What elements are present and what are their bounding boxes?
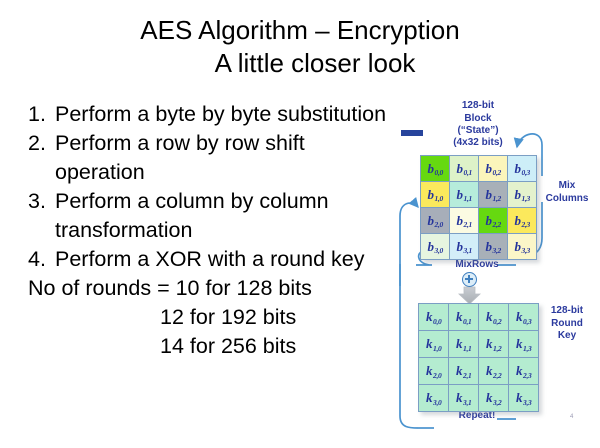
key-cell-label: k0,0 [426, 310, 441, 325]
round-key-matrix: k0,0k0,1k0,2k0,3k1,0k1,1k1,2k1,3k2,0k2,1… [418, 303, 539, 412]
round-key-label: 128-bit Round Key [534, 305, 600, 343]
mix-columns-label-line-1: Mix [534, 180, 600, 193]
list-item-label: Perform a XOR with a round key [55, 247, 364, 271]
key-cell-label: k0,2 [486, 310, 501, 325]
list-item: 4.Perform a XOR with a round key [28, 245, 400, 274]
round-key-label-line-1: 128-bit [534, 305, 600, 318]
state-row: b2,0b2,1b2,2b2,3 [421, 208, 537, 234]
list-item: 1.Perform a byte by byte substitution [28, 100, 400, 129]
key-cell-1-0: k1,0 [419, 331, 449, 358]
state-cell-1-1: b1,1 [450, 182, 479, 208]
state-cell-0-1: b0,1 [450, 156, 479, 182]
key-cell-0-1: k0,1 [449, 304, 479, 331]
list-item-label: Perform a byte by byte substitution [55, 102, 386, 126]
state-cell-label: b3,0 [428, 240, 443, 255]
key-cell-label: k1,3 [516, 337, 531, 352]
repeat-loop-line [400, 286, 418, 428]
round-key-label-line-3: Key [534, 330, 600, 343]
state-cell-1-3: b1,3 [508, 182, 537, 208]
state-cell-label: b1,2 [486, 188, 501, 203]
key-cell-label: k2,1 [456, 364, 471, 379]
key-cell-label: k2,0 [426, 364, 441, 379]
state-cell-label: b1,0 [428, 188, 443, 203]
state-cell-label: b3,3 [515, 240, 530, 255]
mix-rows-arrow-left [400, 203, 418, 286]
mix-columns-label: Mix Columns [534, 180, 600, 205]
state-cell-label: b1,3 [515, 188, 530, 203]
state-caption: 128-bit Block (“State”) [408, 100, 548, 138]
list-item: 2.Perform a row by row shift operation [28, 129, 400, 187]
key-row: k1,0k1,1k1,2k1,3 [419, 331, 539, 358]
state-cell-label: b2,0 [428, 214, 443, 229]
state-cell-0-0: b0,0 [421, 156, 450, 182]
key-cell-1-1: k1,1 [449, 331, 479, 358]
key-cell-0-3: k0,3 [509, 304, 539, 331]
state-size-label: (4x32 bits) [408, 137, 548, 150]
state-caption-line-2: Block [408, 113, 548, 126]
key-cell-label: k1,0 [426, 337, 441, 352]
key-cell-1-3: k1,3 [509, 331, 539, 358]
state-cell-label: b0,2 [486, 162, 501, 177]
slide-number: 4 [570, 414, 573, 420]
bullet-list: 1.Perform a byte by byte substitution2.P… [28, 100, 400, 361]
state-cell-label: b2,1 [457, 214, 472, 229]
state-cell-label: b2,2 [486, 214, 501, 229]
key-cell-2-1: k2,1 [449, 358, 479, 385]
state-cell-3-1: b3,1 [450, 234, 479, 260]
key-row: k0,0k0,1k0,2k0,3 [419, 304, 539, 331]
key-cell-label: k3,3 [516, 391, 531, 406]
list-item: No of rounds = 10 for 128 bits [28, 274, 400, 303]
list-item-number: 2. [28, 129, 46, 158]
list-item-label: Perform a column by column transformatio… [55, 189, 329, 242]
key-cell-label: k1,1 [456, 337, 471, 352]
xor-down-arrow [459, 287, 480, 304]
state-cell-label: b3,2 [486, 240, 501, 255]
list-item-number: 4. [28, 245, 46, 274]
xor-icon [462, 272, 477, 287]
list-item: 3.Perform a column by column transformat… [28, 187, 400, 245]
state-row: b1,0b1,1b1,2b1,3 [421, 182, 537, 208]
state-cell-2-1: b2,1 [450, 208, 479, 234]
round-key-label-line-2: Round [534, 318, 600, 331]
list-item-number: 3. [28, 187, 46, 216]
key-cell-0-2: k0,2 [479, 304, 509, 331]
key-cell-label: k3,0 [426, 391, 441, 406]
state-cell-2-3: b2,3 [508, 208, 537, 234]
key-cell-label: k0,3 [516, 310, 531, 325]
key-cell-1-2: k1,2 [479, 331, 509, 358]
state-cell-0-2: b0,2 [479, 156, 508, 182]
state-cell-label: b3,1 [457, 240, 472, 255]
key-cell-3-1: k3,1 [449, 385, 479, 412]
key-cell-0-0: k0,0 [419, 304, 449, 331]
state-cell-1-2: b1,2 [479, 182, 508, 208]
title-line-1: AES Algorithm – Encryption [140, 15, 459, 45]
key-cell-label: k3,1 [456, 391, 471, 406]
state-row: b0,0b0,1b0,2b0,3 [421, 156, 537, 182]
state-cell-label: b2,3 [515, 214, 530, 229]
key-cell-label: k2,3 [516, 364, 531, 379]
state-matrix: b0,0b0,1b0,2b0,3b1,0b1,1b1,2b1,3b2,0b2,1… [420, 155, 537, 260]
list-item-number: 1. [28, 100, 46, 129]
slide-canvas: AES Algorithm – Encryption A little clos… [0, 0, 600, 448]
state-cell-label: b0,1 [457, 162, 472, 177]
key-cell-3-2: k3,2 [479, 385, 509, 412]
aes-round-diagram: 128-bit Block (“State”) (4x32 bits) Mix … [392, 98, 600, 446]
mix-rows-label: MixRows [418, 259, 536, 272]
state-cell-label: b0,0 [428, 162, 443, 177]
key-cell-label: k2,2 [486, 364, 501, 379]
state-caption-line-3: (“State”) [408, 125, 548, 138]
page-title: AES Algorithm – Encryption A little clos… [0, 14, 600, 80]
title-line-2: A little closer look [0, 47, 600, 80]
state-cell-3-3: b3,3 [508, 234, 537, 260]
state-cell-2-0: b2,0 [421, 208, 450, 234]
state-cell-0-3: b0,3 [508, 156, 537, 182]
state-cell-1-0: b1,0 [421, 182, 450, 208]
key-cell-2-0: k2,0 [419, 358, 449, 385]
mix-columns-label-line-2: Columns [534, 193, 600, 206]
key-cell-3-0: k3,0 [419, 385, 449, 412]
key-cell-2-3: k2,3 [509, 358, 539, 385]
key-cell-label: k1,2 [486, 337, 501, 352]
state-cell-label: b0,3 [515, 162, 530, 177]
key-cell-label: k3,2 [486, 391, 501, 406]
state-cell-3-2: b3,2 [479, 234, 508, 260]
key-row: k2,0k2,1k2,2k2,3 [419, 358, 539, 385]
state-cell-label: b1,1 [457, 188, 472, 203]
list-item: 12 for 192 bits [28, 303, 400, 332]
key-row: k3,0k3,1k3,2k3,3 [419, 385, 539, 412]
key-cell-2-2: k2,2 [479, 358, 509, 385]
state-row: b3,0b3,1b3,2b3,3 [421, 234, 537, 260]
key-cell-label: k0,1 [456, 310, 471, 325]
list-item-label: Perform a row by row shift operation [55, 131, 305, 184]
state-caption-line-1: 128-bit [408, 100, 548, 113]
state-cell-2-2: b2,2 [479, 208, 508, 234]
list-item: 14 for 256 bits [28, 332, 400, 361]
key-cell-3-3: k3,3 [509, 385, 539, 412]
state-cell-3-0: b3,0 [421, 234, 450, 260]
